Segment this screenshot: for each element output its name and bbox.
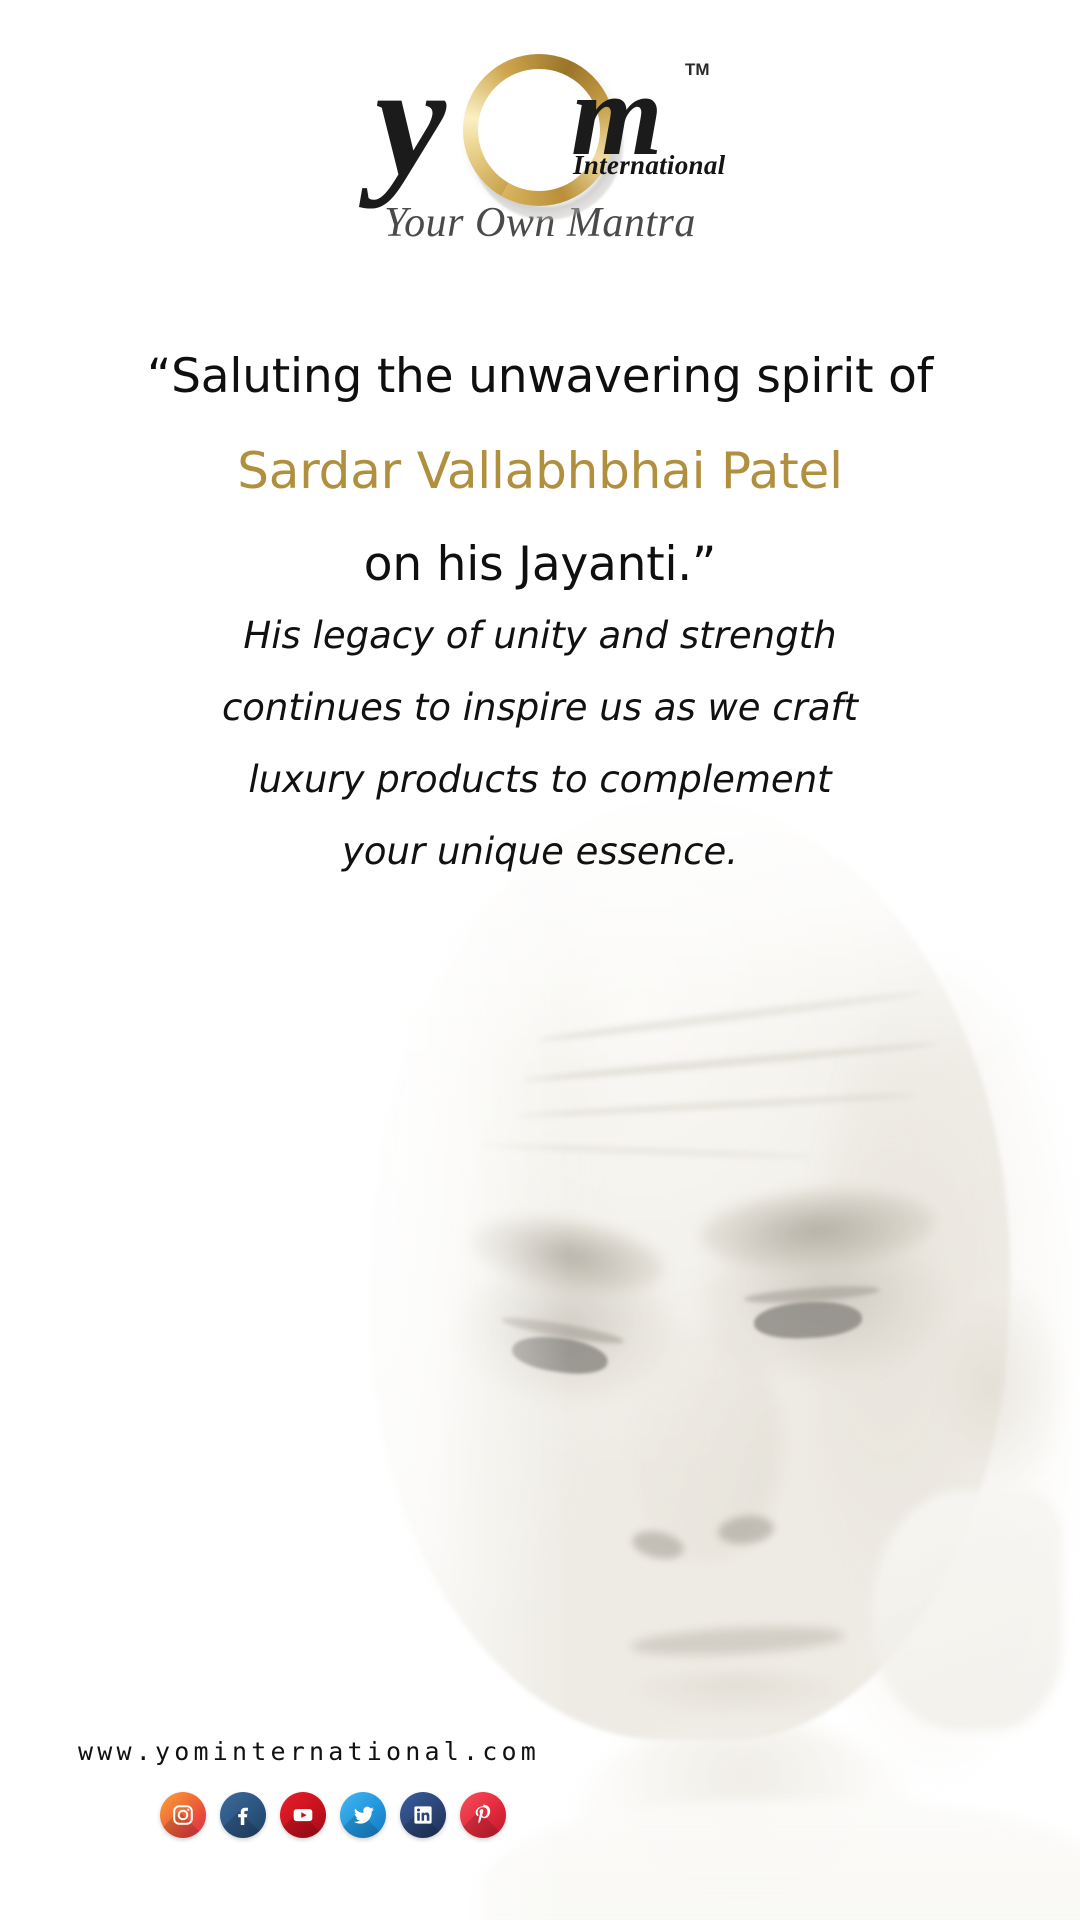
body-line-1: His legacy of unity and strength (0, 600, 1080, 672)
portrait-eyebrow-right (698, 1182, 938, 1276)
twitter-icon (351, 1803, 376, 1828)
portrait-eye-left (510, 1331, 610, 1378)
quote-headline: “Saluting the unwavering spirit of Sarda… (0, 330, 1080, 612)
portrait-collar (872, 1490, 1062, 1730)
youtube-icon (290, 1802, 316, 1828)
body-copy: His legacy of unity and strength continu… (0, 600, 1080, 888)
portrait-forehead-crease (520, 1040, 939, 1085)
social-link-linkedin[interactable] (400, 1792, 446, 1838)
instagram-icon (171, 1803, 195, 1827)
quote-line-1: “Saluting the unwavering spirit of (0, 330, 1080, 424)
website-url[interactable]: www.yominternational.com (78, 1737, 598, 1766)
portrait-eyebrow-left (466, 1205, 670, 1305)
portrait-ear (942, 1280, 1062, 1490)
logo-wordmark: y m TM International (375, 46, 705, 176)
portrait-nostril-left (630, 1527, 686, 1563)
brand-logo: y m TM International Your Own Mantra (0, 46, 1080, 247)
portrait-chin (580, 1720, 910, 1910)
portrait-eyelid-right (744, 1283, 881, 1305)
logo-international-label: International (573, 150, 725, 181)
portrait-nose (630, 1330, 780, 1560)
social-link-twitter[interactable] (340, 1792, 386, 1838)
trademark-symbol: TM (685, 60, 710, 80)
portrait-eye-socket-left (458, 1260, 673, 1400)
logo-letter-y: y (375, 40, 440, 200)
portrait-forehead-crease (536, 988, 924, 1044)
portrait-highlight-left (366, 910, 596, 1610)
body-line-2: continues to inspire us as we craft (0, 672, 1080, 744)
social-link-youtube[interactable] (280, 1792, 326, 1838)
body-line-3: luxury products to complement (0, 744, 1080, 816)
social-link-instagram[interactable] (160, 1792, 206, 1838)
social-link-pinterest[interactable] (460, 1792, 506, 1838)
portrait-eye-socket-right (702, 1228, 942, 1378)
linkedin-icon (411, 1803, 435, 1827)
body-line-4: your unique essence. (0, 816, 1080, 888)
social-link-facebook[interactable] (220, 1792, 266, 1838)
portrait-lower-lip-shadow (622, 1674, 852, 1714)
social-links-row (160, 1792, 598, 1838)
portrait-forehead-crease (480, 1142, 810, 1160)
portrait-forehead-crease (515, 1092, 915, 1120)
footer: www.yominternational.com (78, 1737, 598, 1838)
portrait-eyelid-left (500, 1313, 625, 1348)
portrait-eye-right (753, 1299, 863, 1341)
portrait-mouth (629, 1622, 845, 1659)
poster-canvas: y m TM International Your Own Mantra “Sa… (0, 0, 1080, 1920)
quote-line-3: on his Jayanti.” (0, 518, 1080, 612)
pinterest-icon (471, 1803, 495, 1827)
portrait-head-shape (370, 800, 1010, 1740)
quote-line-honoree-name: Sardar Vallabhbhai Patel (0, 424, 1080, 518)
portrait-nostril-right (717, 1513, 776, 1547)
portrait-shadow-right (810, 970, 1070, 1770)
facebook-icon (231, 1803, 255, 1827)
